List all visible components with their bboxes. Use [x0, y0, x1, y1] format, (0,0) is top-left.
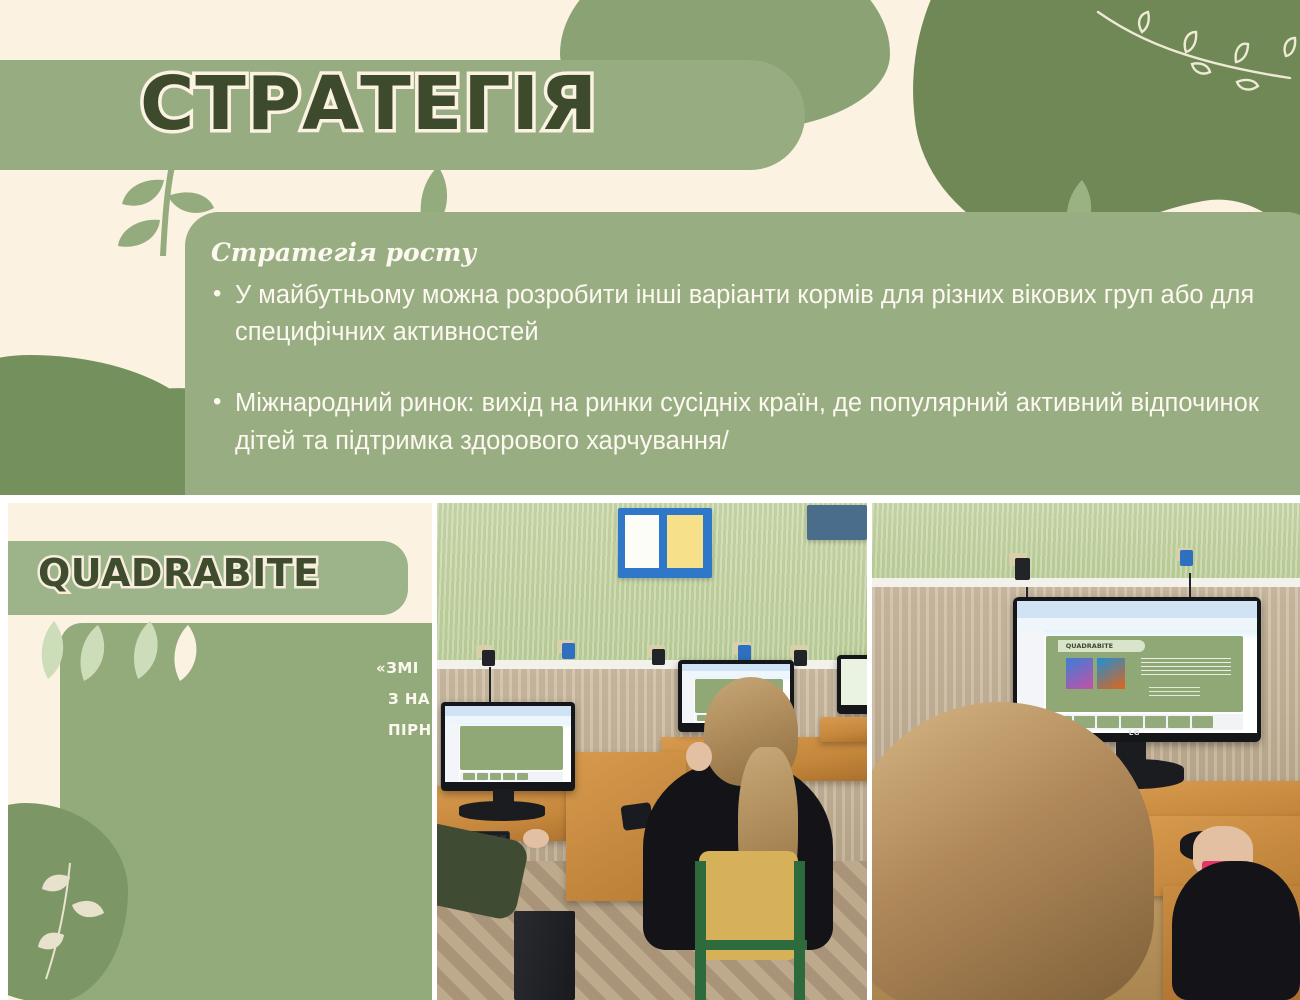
slide-title-text: QUADRABITE [1066, 642, 1113, 650]
body-heading: Стратегія росту [211, 238, 1280, 267]
wall-plug [1180, 550, 1193, 566]
wall-plug [482, 650, 495, 666]
slide-thumbnail [1097, 716, 1119, 728]
chair-leg [695, 861, 706, 1000]
slide-canvas: QUADRABITE [1046, 636, 1243, 712]
wall-plug [1015, 558, 1030, 580]
slide-collage: СТРАТЕГІЯ Стратегія росту У майбутньому … [0, 0, 1300, 1000]
monitor-screen-front [445, 706, 570, 782]
browser-tab-bar [1017, 601, 1257, 618]
strategy-slide: СТРАТЕГІЯ Стратегія росту У майбутньому … [0, 0, 1300, 495]
wall-poster [618, 508, 713, 578]
photo-scene: QUADRABITE [872, 503, 1300, 1000]
slide-footer-text [1149, 687, 1200, 696]
slide-thumbnail [490, 773, 501, 780]
monitor-far-right [837, 655, 867, 715]
slide-thumbnail [463, 773, 474, 780]
desk-surface-far [820, 717, 867, 742]
monitor-base-front [459, 801, 545, 821]
browser-address-bar [682, 671, 790, 676]
strategy-bullet-list: У майбутньому можна розробити інші варіа… [207, 277, 1280, 460]
classroom-photo-student-monitor: QUADRABITE [872, 503, 1300, 1000]
slide-thumbnail [1145, 716, 1167, 728]
computer-tower [514, 911, 574, 1000]
student-hand-left [523, 829, 549, 849]
slide-thumbnail [503, 773, 514, 780]
slide-product-image-left [1066, 658, 1094, 688]
mini-vine-icon [36, 843, 126, 983]
quadrabite-product-slide: QUADRABITE «ЗМІ З НА ПІРН 🐾 🐾 🐾 🐾 [8, 503, 432, 1000]
browser-tab-bar [682, 664, 790, 672]
mini-slide-canvas: QUADRABITE «ЗМІ З НА ПІРН [8, 503, 432, 1000]
browser-address-bar [445, 716, 570, 723]
mini-leaf-cluster-icon [38, 621, 208, 731]
student-arm-sleeve [1172, 861, 1300, 1000]
monitor-front [441, 702, 574, 791]
slide-thumbnail [1121, 716, 1143, 728]
wall-plug [794, 650, 807, 666]
mini-text-line-2: З НА [376, 684, 432, 715]
classroom-photo-two-students [437, 503, 867, 1000]
slide-filmstrip [460, 772, 563, 781]
mini-text-line-1: «ЗМІ [376, 653, 432, 684]
mini-page-title: QUADRABITE [38, 551, 320, 595]
strategy-body-panel: Стратегія росту У майбутньому можна розр… [185, 212, 1300, 495]
slide-thumbnail [477, 773, 488, 780]
list-item: У майбутньому можна розробити інші варіа… [207, 277, 1280, 351]
slide-body-text [1141, 658, 1232, 678]
mini-text-line-3: ПІРН [376, 715, 432, 746]
list-item: Міжнародний ринок: вихід на ринки сусідн… [207, 385, 1280, 459]
chair-rail [695, 940, 807, 950]
wall-plug [652, 649, 665, 665]
wall-plug [738, 645, 751, 661]
slide-thumbnail [1192, 716, 1214, 728]
wall-trim [872, 578, 1300, 588]
slide-thumbnail [517, 773, 528, 780]
monitor-brand-logo: LG [1129, 729, 1140, 737]
slide-canvas [460, 726, 563, 770]
wall-plug [562, 643, 575, 659]
wall-poster-secondary [807, 505, 867, 540]
page-title: СТРАТЕГІЯ [140, 66, 598, 144]
slide-thumbnail [1168, 716, 1190, 728]
photo-scene [437, 503, 867, 1000]
wall-surface [872, 503, 1300, 583]
chair-leg [794, 861, 805, 1000]
editor-sidebar [445, 723, 459, 783]
mini-slide-text: «ЗМІ З НА ПІРН [376, 653, 432, 745]
slide-product-image-right [1097, 658, 1125, 688]
editor-sidebar [682, 677, 694, 723]
browser-tab-bar [445, 706, 570, 716]
browser-address-bar [1017, 618, 1257, 630]
bottom-image-row: QUADRABITE «ЗМІ З НА ПІРН 🐾 🐾 🐾 🐾 [0, 503, 1300, 1000]
monitor-screen-far-right [841, 659, 867, 706]
